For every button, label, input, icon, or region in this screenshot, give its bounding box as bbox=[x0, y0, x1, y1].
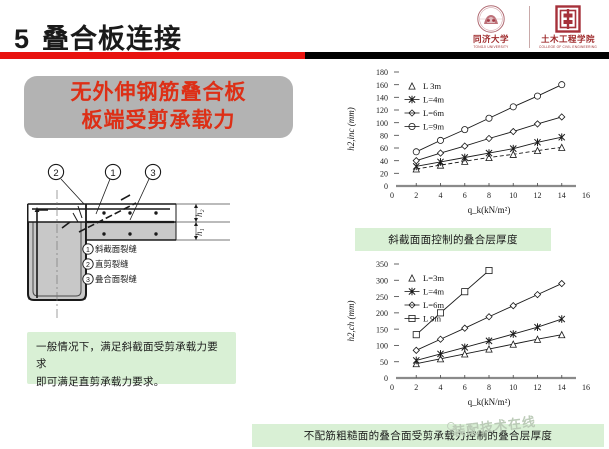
svg-text:L=6m: L=6m bbox=[423, 108, 444, 118]
svg-text:6: 6 bbox=[463, 191, 467, 200]
svg-text:14: 14 bbox=[558, 383, 566, 392]
svg-text:120: 120 bbox=[376, 106, 388, 115]
svg-text:3: 3 bbox=[150, 168, 155, 179]
topic-title-box: 无外伸钢筋叠合板 板端受剪承载力 bbox=[24, 76, 293, 138]
college-logo-cn: 土木工程学院 bbox=[537, 35, 599, 44]
slab-connection-diagram: 2 1 3 h₂ bbox=[18, 160, 243, 325]
svg-text:300: 300 bbox=[376, 276, 388, 285]
svg-text:4: 4 bbox=[439, 191, 443, 200]
tongji-logo-cn: 同济大学 bbox=[460, 35, 522, 44]
college-seal-icon bbox=[537, 2, 599, 35]
svg-text:L 9m: L 9m bbox=[423, 314, 441, 324]
svg-text:L=3m: L=3m bbox=[423, 273, 444, 283]
dimension-h2: h₂ bbox=[176, 204, 230, 222]
college-logo-en: COLLEGE OF CIVIL ENGINEERING bbox=[537, 45, 599, 49]
header-rule-black bbox=[305, 52, 609, 59]
tongji-seal-icon bbox=[460, 2, 522, 35]
svg-text:100: 100 bbox=[376, 342, 388, 351]
svg-text:h₂: h₂ bbox=[194, 209, 204, 217]
svg-text:L=9m: L=9m bbox=[423, 122, 444, 132]
svg-text:q_k(kN/m²): q_k(kN/m²) bbox=[468, 397, 511, 407]
svg-text:h2,ch (mm): h2,ch (mm) bbox=[346, 301, 356, 342]
topic-title-line2: 板端受剪承载力 bbox=[82, 107, 236, 135]
svg-text:160: 160 bbox=[376, 81, 388, 90]
svg-text:L=6m: L=6m bbox=[423, 300, 444, 310]
svg-text:350: 350 bbox=[376, 260, 388, 269]
topic-title-line1: 无外伸钢筋叠合板 bbox=[71, 79, 247, 107]
svg-text:2: 2 bbox=[414, 191, 418, 200]
svg-text:8: 8 bbox=[487, 191, 491, 200]
svg-text:200: 200 bbox=[376, 309, 388, 318]
svg-text:q_k(kN/m²): q_k(kN/m²) bbox=[468, 205, 511, 215]
svg-text:16: 16 bbox=[582, 383, 590, 392]
svg-text:8: 8 bbox=[487, 383, 491, 392]
svg-text:250: 250 bbox=[376, 293, 388, 302]
chart-interface-shear-thickness: 0501001502002503003500246810121416q_k(kN… bbox=[340, 256, 602, 418]
note-box: 一般情况下，满足斜截面受剪承载力要求 即可满足直剪承载力要求。 bbox=[27, 332, 236, 384]
svg-text:14: 14 bbox=[558, 191, 566, 200]
diagram-legend: 1 斜截面裂缝 2 直剪裂缝 3 叠合面裂缝 bbox=[83, 244, 138, 284]
svg-text:20: 20 bbox=[380, 170, 388, 179]
diagram-legend-label-1: 斜截面裂缝 bbox=[95, 244, 137, 254]
chart-top-plot: 0204060801001201401601800246810121416q_k… bbox=[340, 64, 602, 226]
svg-text:60: 60 bbox=[380, 144, 388, 153]
svg-text:16: 16 bbox=[582, 191, 590, 200]
svg-text:0: 0 bbox=[390, 383, 394, 392]
svg-text:0: 0 bbox=[384, 182, 388, 191]
note-line2: 即可满足直剪承载力要求。 bbox=[36, 374, 228, 391]
svg-text:0: 0 bbox=[384, 374, 388, 383]
svg-text:0: 0 bbox=[390, 191, 394, 200]
note-line1: 一般情况下，满足斜截面受剪承载力要求 bbox=[36, 339, 228, 374]
svg-text:3: 3 bbox=[86, 277, 90, 284]
svg-text:6: 6 bbox=[463, 383, 467, 392]
logo-divider bbox=[529, 6, 530, 48]
svg-text:10: 10 bbox=[509, 383, 517, 392]
diagram-legend-label-2: 直剪裂缝 bbox=[95, 259, 129, 269]
svg-text:40: 40 bbox=[380, 157, 388, 166]
logo-group: 同济大学 TONGJI UNIVERSITY 土木工程学院 COLLEGE OF… bbox=[460, 2, 599, 49]
svg-text:L 3m: L 3m bbox=[423, 81, 441, 91]
svg-text:180: 180 bbox=[376, 68, 388, 77]
svg-text:L=4m: L=4m bbox=[423, 95, 444, 105]
svg-text:150: 150 bbox=[376, 325, 388, 334]
header-rule-red bbox=[0, 52, 305, 59]
chart-inclined-section-thickness: 0204060801001201401601800246810121416q_k… bbox=[340, 64, 602, 226]
tongji-university-logo: 同济大学 TONGJI UNIVERSITY bbox=[460, 2, 522, 49]
svg-text:80: 80 bbox=[380, 132, 388, 141]
diagram-legend-label-3: 叠合面裂缝 bbox=[95, 274, 137, 284]
callout-3: 3 bbox=[145, 164, 160, 179]
college-civil-engineering-logo: 土木工程学院 COLLEGE OF CIVIL ENGINEERING bbox=[537, 2, 599, 49]
svg-text:2: 2 bbox=[53, 168, 58, 179]
chart-bottom-caption: 不配筋粗糙面的叠合面受剪承载力控制的叠合层厚度 bbox=[252, 424, 604, 447]
chart-top-caption: 斜截面面控制的叠合层厚度 bbox=[355, 228, 551, 251]
slide-canvas: 5叠合板连接 同济大学 TONGJI UNIVERSITY bbox=[0, 0, 609, 449]
svg-text:1: 1 bbox=[86, 247, 90, 254]
svg-text:12: 12 bbox=[534, 191, 542, 200]
chart-bottom-plot: 0501001502002503003500246810121416q_k(kN… bbox=[340, 256, 602, 418]
svg-text:12: 12 bbox=[534, 383, 542, 392]
svg-text:4: 4 bbox=[439, 383, 443, 392]
svg-text:L=4m: L=4m bbox=[423, 287, 444, 297]
svg-text:2: 2 bbox=[86, 262, 90, 269]
svg-text:140: 140 bbox=[376, 94, 388, 103]
svg-text:50: 50 bbox=[380, 358, 388, 367]
callout-2: 2 bbox=[48, 164, 63, 179]
tongji-logo-en: TONGJI UNIVERSITY bbox=[460, 45, 522, 49]
svg-text:2: 2 bbox=[414, 383, 418, 392]
section-number: 5 bbox=[14, 24, 30, 54]
svg-text:h₁: h₁ bbox=[194, 228, 204, 236]
page-title-text: 叠合板连接 bbox=[42, 24, 182, 54]
svg-text:1: 1 bbox=[110, 168, 115, 179]
page-title: 5叠合板连接 bbox=[14, 17, 182, 56]
callout-1: 1 bbox=[105, 164, 120, 179]
dimension-h1: h₁ bbox=[176, 222, 230, 240]
svg-text:100: 100 bbox=[376, 119, 388, 128]
svg-text:h2,inc (mm): h2,inc (mm) bbox=[346, 107, 356, 151]
svg-text:10: 10 bbox=[509, 191, 517, 200]
